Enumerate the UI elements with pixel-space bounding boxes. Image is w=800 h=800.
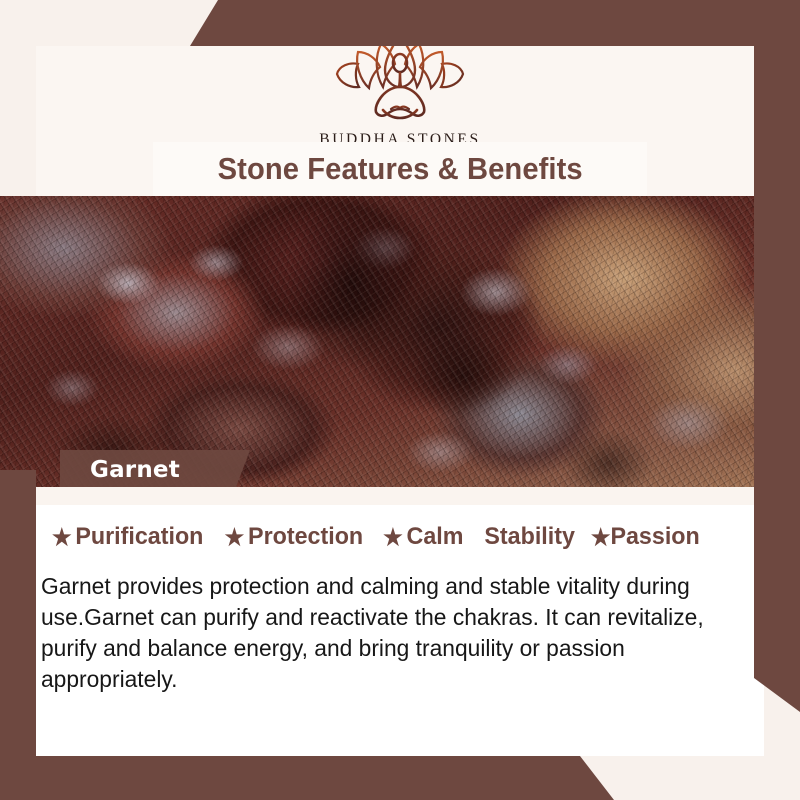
panel-top-strip: [36, 487, 764, 505]
star-icon: ★: [383, 526, 403, 549]
benefit-label: Passion: [610, 523, 699, 551]
benefit-item-protection: ★ Protection: [225, 523, 363, 551]
star-icon: ★: [591, 526, 611, 549]
frame-left-bar: [0, 470, 36, 800]
stone-name-tag: Garnet: [60, 450, 250, 490]
star-icon: ★: [52, 526, 72, 549]
benefit-item-stability: Stability: [484, 523, 575, 551]
benefit-label: Calm: [407, 523, 464, 551]
infographic-page: BUDDHA STONES Stone Features & Benefits …: [0, 0, 800, 800]
benefit-item-passion: ★ Passion: [591, 523, 700, 551]
benefit-label: Protection: [248, 523, 363, 551]
stone-name: Garnet: [90, 457, 180, 483]
benefits-row: ★ Purification ★ Protection ★ Calm Stabi…: [48, 523, 754, 551]
benefit-label: Purification: [75, 523, 203, 551]
benefit-item-purification: ★ Purification: [52, 523, 203, 551]
description-panel: ★ Purification ★ Protection ★ Calm Stabi…: [36, 487, 764, 756]
benefit-item-calm: ★ Calm: [383, 523, 463, 551]
page-title: Stone Features & Benefits: [217, 151, 582, 187]
benefit-label: Stability: [484, 523, 575, 551]
title-banner: Stone Features & Benefits: [153, 142, 647, 196]
frame-bottom-bar: [0, 756, 800, 800]
frame-right-bar: [754, 0, 800, 712]
star-icon: ★: [225, 526, 245, 549]
garnet-raw-crystals-photo: [0, 196, 800, 487]
stone-description: Garnet provides protection and calming a…: [41, 571, 736, 695]
brand-logo-block: BUDDHA STONES: [0, 30, 800, 149]
photo-grain-layer: [0, 196, 800, 487]
